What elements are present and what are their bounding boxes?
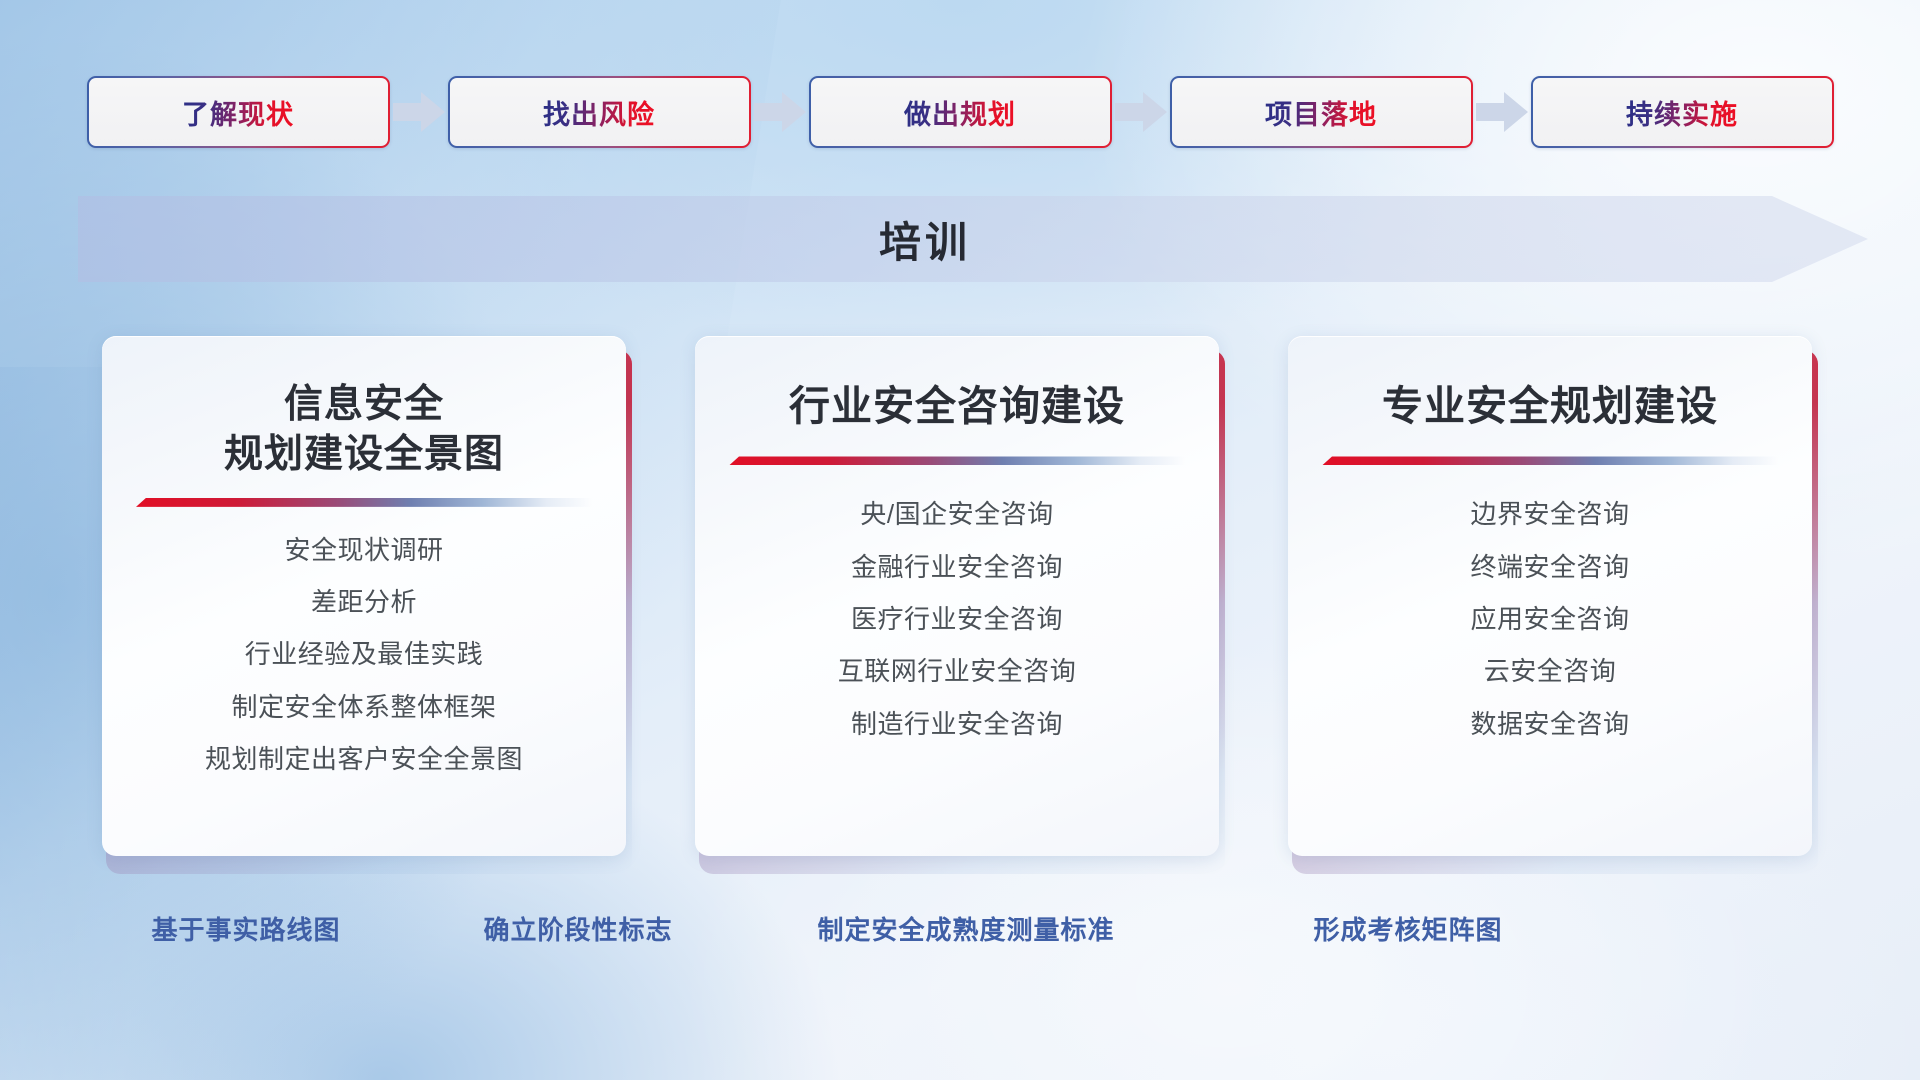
service-card-3-list: 边界安全咨询 终端安全咨询 应用安全咨询 云安全咨询 数据安全咨询 (1322, 491, 1778, 746)
service-card-2[interactable]: 行业安全咨询建设 央/国企安全咨询 金融行业安全咨询 医疗行业安全咨询 互联网行… (695, 336, 1225, 874)
list-item: 制定安全体系整体框架 (231, 684, 496, 730)
flow-step-1-inner: 了解现状 (89, 78, 388, 146)
flow-step-5[interactable]: 持续实施 (1531, 76, 1834, 148)
right-arrow-icon (1115, 92, 1167, 132)
training-banner-title: 培训 (78, 196, 1868, 282)
flow-step-1[interactable]: 了解现状 (87, 76, 390, 148)
outcome-caption-2: 确立阶段性标志 (483, 910, 672, 947)
outcome-caption-1: 基于事实路线图 (151, 910, 340, 947)
flow-step-5-label: 持续实施 (1626, 93, 1738, 132)
list-item: 互联网行业安全咨询 (838, 648, 1077, 694)
service-card-1-title: 信息安全 规划建设全景图 (224, 380, 504, 480)
outcome-caption-4: 形成考核矩阵图 (1313, 910, 1502, 947)
flow-step-1-label: 了解现状 (182, 93, 294, 132)
service-card-1[interactable]: 信息安全 规划建设全景图 安全现状调研 差距分析 行业经验及最佳实践 制定安全体… (102, 336, 632, 874)
service-card-3[interactable]: 专业安全规划建设 边界安全咨询 终端安全咨询 应用安全咨询 云安全咨询 数据安全… (1288, 336, 1818, 874)
service-card-3-divider (1322, 456, 1778, 465)
flow-step-3-label: 做出规划 (904, 93, 1016, 132)
service-card-1-divider (136, 498, 592, 507)
list-item: 金融行业安全咨询 (851, 544, 1063, 590)
flow-step-3-inner: 做出规划 (811, 78, 1110, 146)
flow-step-4-label: 项目落地 (1265, 93, 1377, 132)
service-card-2-title: 行业安全咨询建设 (789, 380, 1125, 432)
flow-arrow-1 (390, 90, 448, 134)
outcome-captions: 基于事实路线图 确立阶段性标志 制定安全成熟度测量标准 形成考核矩阵图 (0, 910, 1920, 958)
flow-step-2-label: 找出风险 (543, 93, 655, 132)
right-arrow-icon (754, 92, 806, 132)
right-arrow-icon (393, 92, 445, 132)
list-item: 制造行业安全咨询 (851, 701, 1063, 747)
service-card-1-body: 信息安全 规划建设全景图 安全现状调研 差距分析 行业经验及最佳实践 制定安全体… (102, 336, 626, 856)
service-card-3-body: 专业安全规划建设 边界安全咨询 终端安全咨询 应用安全咨询 云安全咨询 数据安全… (1288, 336, 1812, 856)
list-item: 央/国企安全咨询 (860, 491, 1053, 537)
training-banner: 培训 (78, 196, 1868, 282)
list-item: 医疗行业安全咨询 (851, 596, 1063, 642)
list-item: 规划制定出客户安全全景图 (205, 736, 523, 782)
flow-arrow-3 (1112, 90, 1170, 134)
list-item: 安全现状调研 (284, 527, 443, 573)
flow-step-4-inner: 项目落地 (1172, 78, 1471, 146)
flow-step-3[interactable]: 做出规划 (809, 76, 1112, 148)
list-item: 行业经验及最佳实践 (245, 631, 484, 677)
process-flow-steps: 了解现状 找出风险 做出规划 项目落地 (0, 76, 1920, 148)
outcome-caption-3: 制定安全成熟度测量标准 (817, 910, 1114, 947)
flow-step-4[interactable]: 项目落地 (1170, 76, 1473, 148)
flow-step-2-inner: 找出风险 (450, 78, 749, 146)
service-card-2-body: 行业安全咨询建设 央/国企安全咨询 金融行业安全咨询 医疗行业安全咨询 互联网行… (695, 336, 1219, 856)
service-card-2-list: 央/国企安全咨询 金融行业安全咨询 医疗行业安全咨询 互联网行业安全咨询 制造行… (729, 491, 1185, 746)
list-item: 边界安全咨询 (1470, 491, 1629, 537)
flow-arrow-4 (1473, 90, 1531, 134)
service-card-3-title: 专业安全规划建设 (1382, 380, 1718, 432)
list-item: 终端安全咨询 (1470, 544, 1629, 590)
list-item: 云安全咨询 (1484, 648, 1617, 694)
flow-arrow-2 (751, 90, 809, 134)
flow-step-5-inner: 持续实施 (1533, 78, 1832, 146)
list-item: 应用安全咨询 (1470, 596, 1629, 642)
service-cards: 信息安全 规划建设全景图 安全现状调研 差距分析 行业经验及最佳实践 制定安全体… (0, 336, 1920, 876)
flow-step-2[interactable]: 找出风险 (448, 76, 751, 148)
list-item: 数据安全咨询 (1470, 701, 1629, 747)
service-card-1-list: 安全现状调研 差距分析 行业经验及最佳实践 制定安全体系整体框架 规划制定出客户… (136, 527, 592, 782)
list-item: 差距分析 (311, 579, 417, 625)
right-arrow-icon (1476, 92, 1528, 132)
service-card-2-divider (729, 456, 1185, 465)
